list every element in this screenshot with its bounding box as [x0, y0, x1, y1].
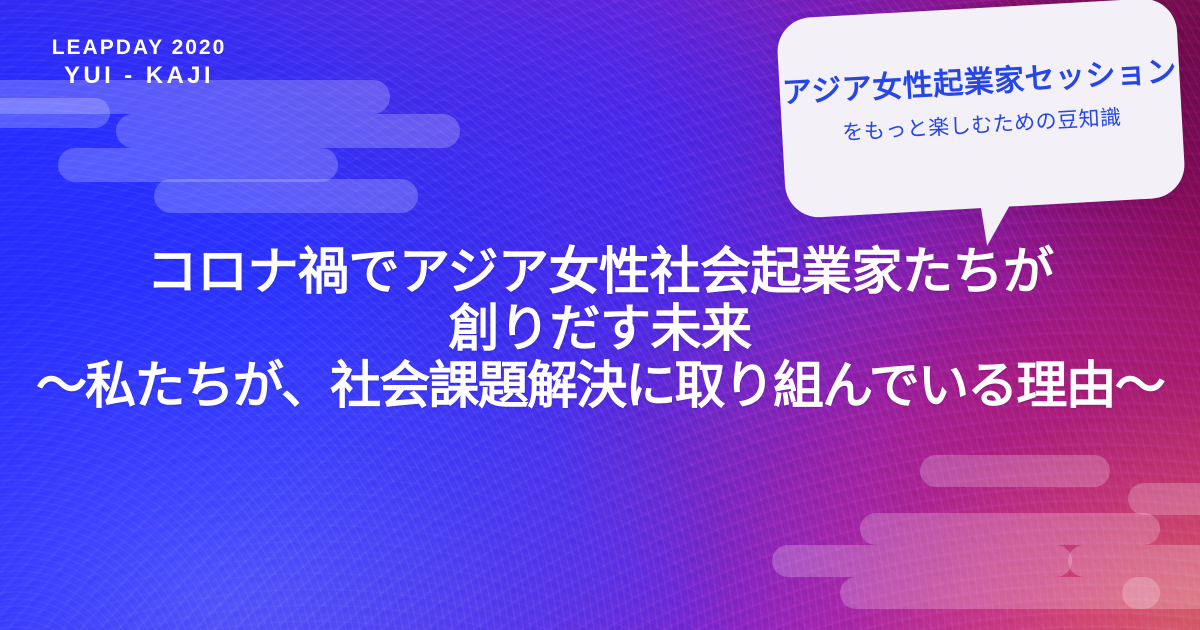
og-card: LEAPDAY 2020 YUI - KAJI アジア女性起業家セッション をも…	[0, 0, 1200, 630]
page-title-line2: 創りだす未来	[0, 300, 1200, 357]
event-logo-line2: YUI - KAJI	[34, 62, 244, 91]
event-logo-line1: LEAPDAY 2020	[34, 36, 244, 60]
event-logo: LEAPDAY 2020 YUI - KAJI	[34, 36, 244, 91]
pattern-bottom-right	[860, 455, 1200, 615]
speech-bubble-text: アジア女性起業家セッション をもっと楽しむための豆知識	[776, 0, 1187, 219]
page-title-line1: コロナ禍でアジア女性社会起業家たちが	[0, 243, 1200, 300]
speech-bubble-subline: をもっと楽しむための豆知識	[842, 104, 1123, 148]
pattern-top-left	[0, 80, 460, 210]
speech-bubble: アジア女性起業家セッション をもっと楽しむための豆知識	[776, 0, 1187, 219]
page-title-line3: 〜私たちが、社会課題解決に取り組んでいる理由〜	[0, 357, 1200, 414]
page-title: コロナ禍でアジア女性社会起業家たちが 創りだす未来 〜私たちが、社会課題解決に取…	[0, 243, 1200, 414]
